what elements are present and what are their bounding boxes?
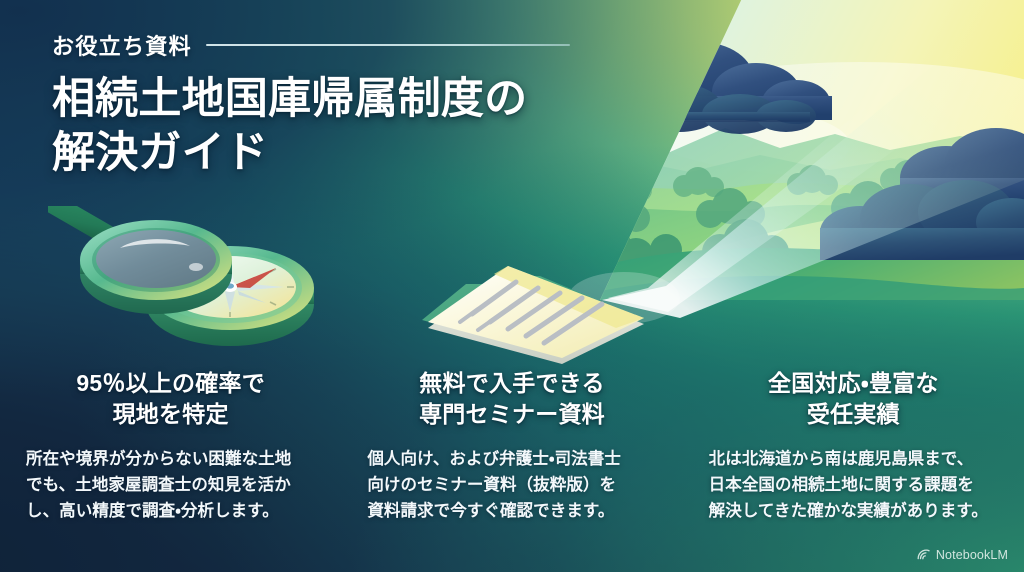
feature-heading-line-1: 無料で入手できる: [363, 368, 660, 399]
feature-body-line-1: 所在や境界が分からない困難な土地: [26, 446, 319, 472]
feature-body: 個人向け、および弁護士・司法書士 向けのセミナー資料（抜粋版）を 資料請求で今す…: [363, 446, 660, 524]
magnifier-compass-illustration: [48, 206, 348, 362]
feature-body: 所在や境界が分からない困難な土地 でも、土地家屋調査士の知見を活か し、高い精度…: [22, 446, 319, 524]
infographic-canvas: お役立ち資料 相続土地国庫帰属制度の 解決ガイド 95％以上の確率で 現地を特定…: [0, 0, 1024, 572]
eyebrow-label: お役立ち資料: [52, 29, 192, 61]
feature-body: 北は北海道から南は鹿児島県まで、 日本全国の相続土地に関する課題を 解決してきた…: [705, 446, 1002, 524]
feature-heading-line-1: 95％以上の確率で: [22, 368, 319, 399]
feature-column-free-materials: 無料で入手できる 専門セミナー資料 個人向け、および弁護士・司法書士 向けのセミ…: [341, 368, 682, 524]
feature-heading-line-2: 専門セミナー資料: [363, 399, 660, 430]
feature-body-line-3: 資料請求で今すぐ確認できます。: [367, 498, 660, 524]
feature-heading-line-2: 受任実績: [705, 399, 1002, 430]
feature-heading-line-1: 全国対応・豊富な: [705, 368, 1002, 399]
header: お役立ち資料 相続土地国庫帰属制度の 解決ガイド: [52, 28, 672, 209]
notebooklm-label: NotebookLM: [936, 548, 1008, 562]
notebooklm-watermark: NotebookLM: [916, 547, 1008, 562]
feature-column-nationwide: 全国対応・豊富な 受任実績 北は北海道から南は鹿児島県まで、 日本全国の相続土地…: [683, 368, 1024, 524]
feature-body-line-1: 個人向け、および弁護士・司法書士: [367, 446, 660, 472]
document-illustration: [412, 228, 656, 364]
feature-body-line-3: し、高い精度で調査・分析します。: [26, 498, 319, 524]
feature-body-line-2: 向けのセミナー資料（抜粋版）を: [367, 472, 660, 498]
feature-column-accuracy: 95％以上の確率で 現地を特定 所在や境界が分からない困難な土地 でも、土地家屋…: [0, 368, 341, 524]
page-title: 相続土地国庫帰属制度の 解決ガイド: [52, 72, 672, 180]
page-title-line-1: 相続土地国庫帰属制度の: [52, 72, 672, 126]
notebooklm-icon: [916, 547, 931, 562]
page-title-line-2: 解決ガイド: [52, 126, 672, 180]
feature-heading: 全国対応・豊富な 受任実績: [705, 368, 1002, 430]
feature-heading-line-2: 現地を特定: [22, 399, 319, 430]
eyebrow-row: お役立ち資料: [52, 28, 672, 62]
feature-body-line-1: 北は北海道から南は鹿児島県まで、: [709, 446, 1002, 472]
feature-heading: 無料で入手できる 専門セミナー資料: [363, 368, 660, 430]
feature-heading: 95％以上の確率で 現地を特定: [22, 368, 319, 430]
feature-body-line-2: 日本全国の相続土地に関する課題を: [709, 472, 1002, 498]
eyebrow-divider: [206, 44, 570, 46]
feature-columns: 95％以上の確率で 現地を特定 所在や境界が分からない困難な土地 でも、土地家屋…: [0, 368, 1024, 524]
feature-body-line-3: 解決してきた確かな実績があります。: [709, 498, 1002, 524]
feature-body-line-2: でも、土地家屋調査士の知見を活か: [26, 472, 319, 498]
